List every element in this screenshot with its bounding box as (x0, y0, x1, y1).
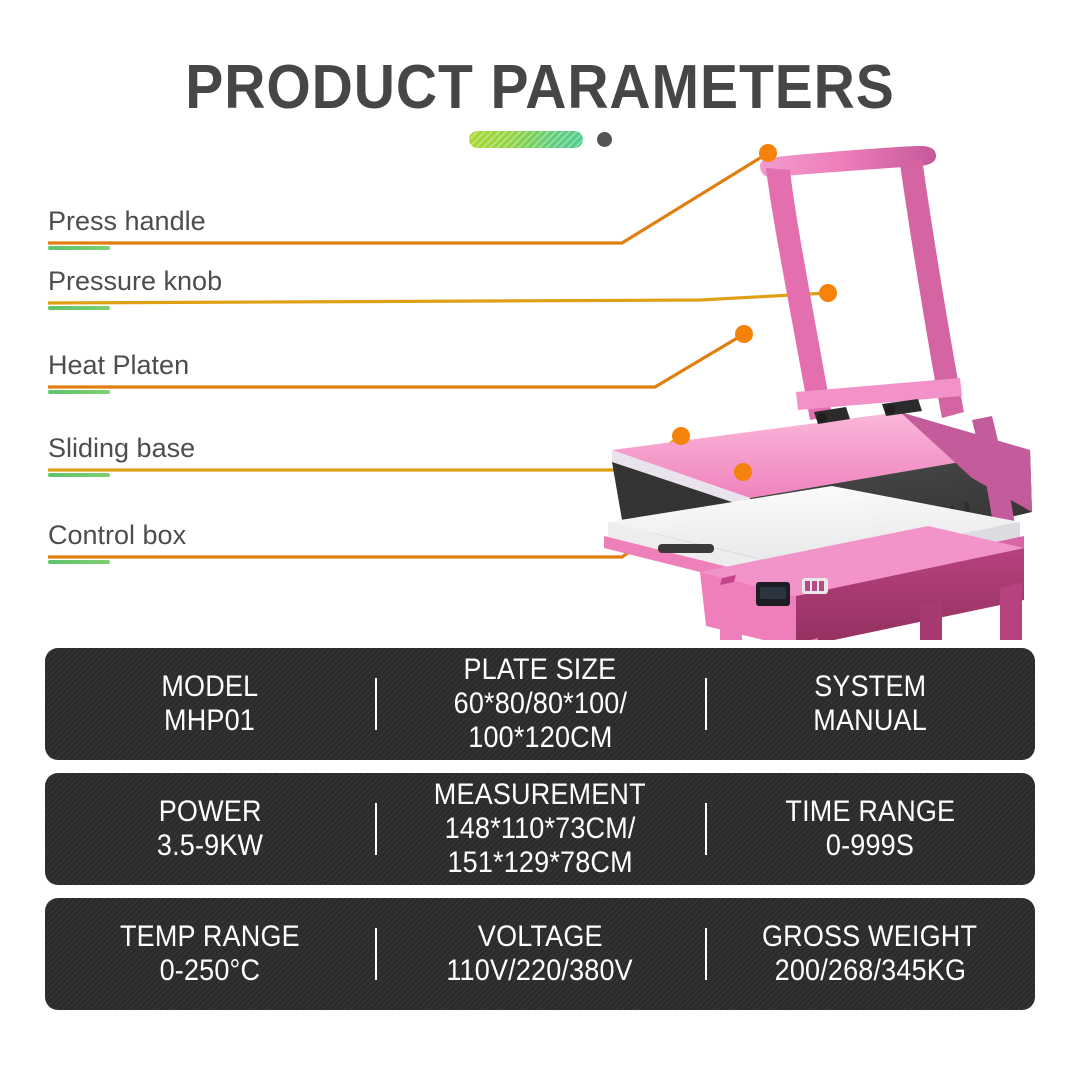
spec-key: GROSS WEIGHT (762, 920, 977, 954)
spec-row: MODEL MHP01 PLATE SIZE 60*80/80*100/ 100… (45, 648, 1035, 760)
spec-row: TEMP RANGE 0-250°C VOLTAGE 110V/220/380V… (45, 898, 1035, 1010)
callout-label: Sliding base (48, 435, 195, 462)
callout-press-handle: Press handle (48, 208, 206, 250)
callout-heat-platen: Heat Platen (48, 352, 189, 394)
spec-value: 148*110*73CM/ 151*129*78CM (445, 812, 636, 880)
product-parameters-infographic: PRODUCT PARAMETERS (0, 0, 1080, 1080)
spec-key: VOLTAGE (478, 920, 603, 954)
spec-value: 60*80/80*100/ 100*120CM (453, 687, 627, 755)
callout-underline (48, 246, 110, 250)
spec-value: 3.5-9KW (157, 829, 263, 863)
spec-cell-power: POWER 3.5-9KW (45, 795, 375, 863)
spec-value: MHP01 (165, 704, 256, 738)
callout-label-list: Press handle Pressure knob Heat Platen S… (0, 0, 1080, 640)
callout-sliding-base: Sliding base (48, 435, 195, 477)
callout-label: Control box (48, 522, 186, 549)
spec-value: 0-250°C (160, 954, 261, 988)
callout-underline (48, 390, 110, 394)
spec-value: 200/268/345KG (774, 954, 966, 988)
callout-pressure-knob: Pressure knob (48, 268, 222, 310)
spec-cell-time-range: TIME RANGE 0-999S (705, 795, 1035, 863)
spec-key: TEMP RANGE (120, 920, 300, 954)
spec-key: MODEL (162, 670, 259, 704)
spec-value: 0-999S (826, 829, 914, 863)
callout-underline (48, 473, 110, 477)
spec-key: PLATE SIZE (464, 653, 617, 687)
spec-value: 110V/220/380V (447, 954, 634, 988)
spec-cell-gross-weight: GROSS WEIGHT 200/268/345KG (705, 920, 1035, 988)
spec-key: SYSTEM (814, 670, 926, 704)
spec-cell-plate-size: PLATE SIZE 60*80/80*100/ 100*120CM (375, 653, 705, 755)
spec-table: MODEL MHP01 PLATE SIZE 60*80/80*100/ 100… (45, 648, 1035, 1023)
callout-control-box: Control box (48, 522, 186, 564)
spec-key: POWER (159, 795, 262, 829)
callout-label: Pressure knob (48, 268, 222, 295)
callout-underline (48, 560, 110, 564)
callout-label: Press handle (48, 208, 206, 235)
callout-label: Heat Platen (48, 352, 189, 379)
callout-underline (48, 306, 110, 310)
spec-cell-temp-range: TEMP RANGE 0-250°C (45, 920, 375, 988)
spec-key: MEASUREMENT (434, 778, 646, 812)
spec-cell-measurement: MEASUREMENT 148*110*73CM/ 151*129*78CM (375, 778, 705, 880)
spec-cell-system: SYSTEM MANUAL (705, 670, 1035, 738)
spec-value: MANUAL (813, 704, 927, 738)
spec-row: POWER 3.5-9KW MEASUREMENT 148*110*73CM/ … (45, 773, 1035, 885)
spec-cell-model: MODEL MHP01 (45, 670, 375, 738)
spec-key: TIME RANGE (785, 795, 955, 829)
spec-cell-voltage: VOLTAGE 110V/220/380V (375, 920, 705, 988)
